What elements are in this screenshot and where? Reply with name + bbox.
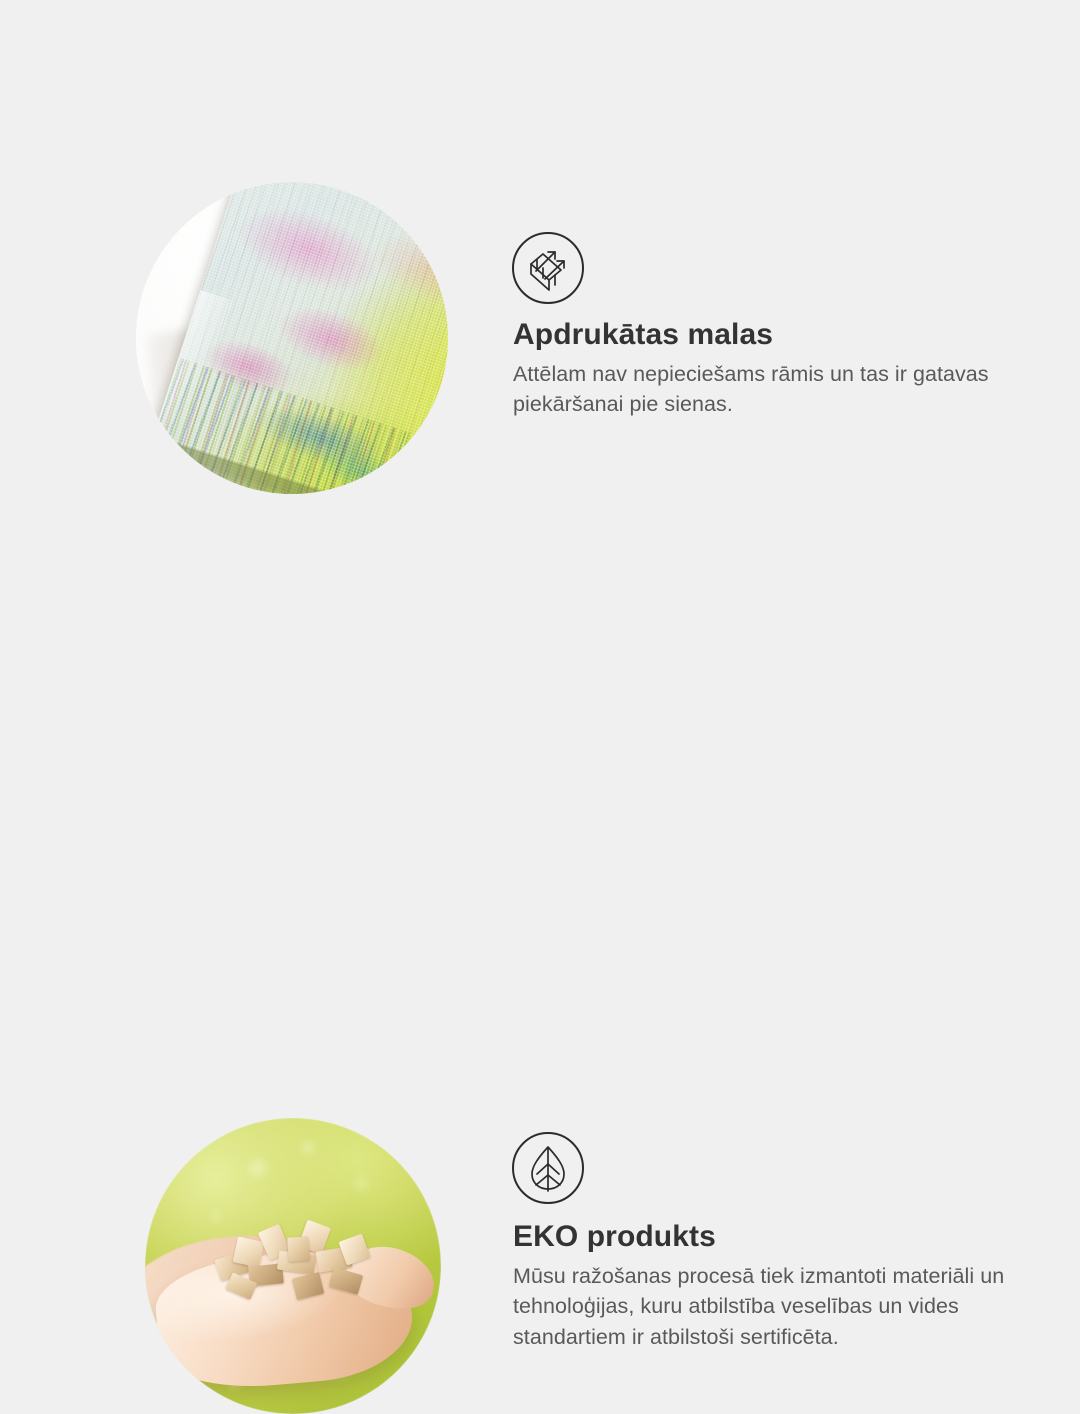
canvas-corner-photo (136, 182, 448, 494)
feature-block-printed-edges: Apdrukātas malas Attēlam nav nepieciešam… (0, 0, 1080, 540)
feature-block-eco: EKO produkts Mūsu ražošanas procesā tiek… (0, 540, 1080, 1080)
leaf-icon (512, 1132, 584, 1204)
hands-wood-chips-photo (145, 1118, 441, 1414)
feature-text-eco: EKO produkts Mūsu ražošanas procesā tiek… (513, 1220, 1013, 1352)
feature-title: Apdrukātas malas (513, 318, 1013, 353)
feature-description: Attēlam nav nepieciešams rāmis un tas ir… (513, 359, 1013, 420)
feature-title: EKO produkts (513, 1220, 1013, 1255)
printed-edges-icon (512, 232, 584, 304)
wood-chip-pile (210, 1213, 388, 1314)
feature-description: Mūsu ražošanas procesā tiek izmantoti ma… (513, 1261, 1013, 1353)
feature-text-printed-edges: Apdrukātas malas Attēlam nav nepieciešam… (513, 318, 1013, 420)
